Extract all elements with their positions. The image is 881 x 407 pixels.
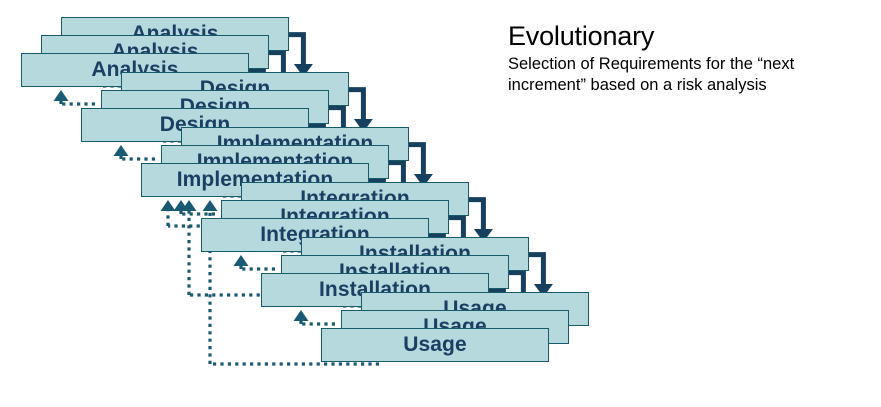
annotation-description: Selection of Requirements for the “next …	[508, 54, 860, 96]
feedback-long-s5-l2-head	[203, 200, 218, 211]
forward-arrow-shaft-s0-l2	[289, 35, 303, 65]
forward-arrow-shaft-s3-l2	[469, 200, 483, 230]
feedback-short-s3-l0-head	[174, 200, 189, 211]
feedback-short-s5-l0-head	[294, 310, 309, 321]
feedback-short-s1-l0-head	[54, 90, 69, 101]
feedback-short-s2-l0-head	[114, 145, 129, 156]
phase-label: Usage	[403, 333, 467, 357]
feedback-short-s4-l0-head	[234, 255, 249, 266]
forward-arrow-shaft-s4-l2	[529, 255, 543, 285]
forward-arrow-shaft-s1-l2	[349, 90, 363, 120]
feedback-long-s4-l2-head	[182, 200, 197, 211]
forward-arrow-shaft-s2-l2	[409, 145, 423, 175]
phase-box-usage-layer0[interactable]: Usage	[321, 328, 549, 362]
annotation-title: Evolutionary	[508, 22, 868, 51]
annotation-block: Evolutionary Selection of Requirements f…	[508, 22, 868, 96]
feedback-long-s3-l2-head	[161, 200, 176, 211]
diagram-canvas: AnalysisAnalysisAnalysisDesignDesignDesi…	[0, 0, 881, 407]
